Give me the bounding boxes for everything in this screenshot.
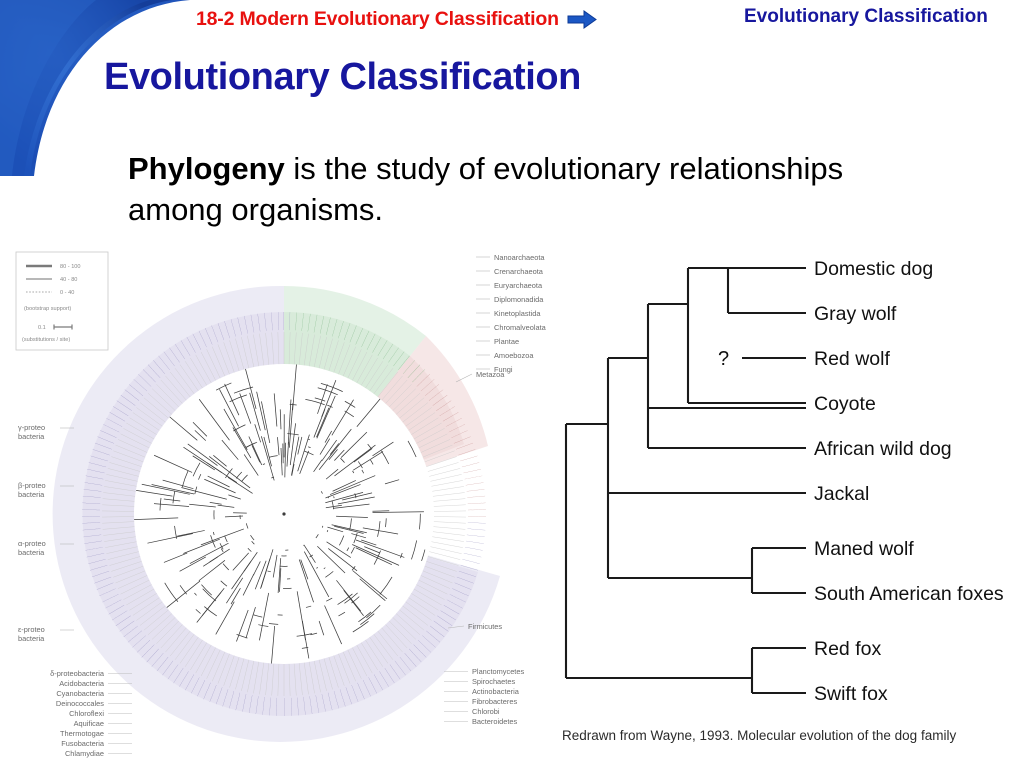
metazoa-label: Metazoa <box>476 370 505 379</box>
page-title: Evolutionary Classification <box>104 56 581 99</box>
tree-tip-microlabel: ————— <box>468 508 486 512</box>
tree-tip-microlabel: ————— <box>466 487 485 493</box>
tree-tip-microlabel: ————— <box>465 480 484 487</box>
circular-phylogenetic-tree: ————————————————————————————————————————… <box>8 246 588 760</box>
body-paragraph: Phylogeny is the study of evolutionary r… <box>128 148 868 230</box>
tree-tip-tick <box>433 493 465 497</box>
tree-tip-microlabel: ————— <box>82 508 100 512</box>
tree-group-label: Spirochaetes <box>472 677 515 686</box>
tree-group-label: δ-proteobacteria <box>50 669 105 678</box>
legend-range-2: 0 - 40 <box>60 290 74 296</box>
tree-tip-tick <box>434 505 466 507</box>
cladogram-taxon-label: Red fox <box>814 638 881 660</box>
tree-legend: 80 - 100 40 - 80 0 - 40 (bootstrap suppo… <box>16 252 108 350</box>
tree-group-label: ε-proteo <box>18 625 45 634</box>
tree-root-node <box>282 512 285 515</box>
slide-canvas: 18-2 Modern Evolutionary Classification … <box>0 0 1024 768</box>
tree-tip-microlabel: ————— <box>468 501 487 506</box>
tree-group-label: bacteria <box>18 490 45 499</box>
tree-tip-microlabel: ————— <box>289 698 294 716</box>
cladogram-taxon-label: Maned wolf <box>814 538 914 560</box>
tree-tip-tick <box>432 537 464 542</box>
tree-tip-tick <box>433 532 465 536</box>
tree-tip-tick <box>433 527 465 530</box>
tree-tip-tick <box>430 547 461 554</box>
cladogram-taxon-label: Red wolf <box>814 348 890 370</box>
tree-group-label: β-proteo <box>18 481 46 490</box>
tree-group-label: γ-proteo <box>18 423 45 432</box>
tree-group-label: Chromalveolata <box>494 323 547 332</box>
tree-group-label: Crenarchaeota <box>494 267 544 276</box>
tree-tip-microlabel: ————— <box>468 520 487 525</box>
tree-tip-tick <box>434 517 466 518</box>
tree-branch <box>372 511 389 512</box>
cladogram-taxon-label: Jackal <box>814 483 869 505</box>
tree-group-label: α-proteo <box>18 539 46 548</box>
tree-group-label: Actinobacteria <box>472 687 520 696</box>
chapter-label: 18-2 Modern Evolutionary Classification <box>196 8 559 31</box>
tree-group-label: Nanoarchaeota <box>494 253 545 262</box>
cladogram-caption: Redrawn from Wayne, 1993. Molecular evol… <box>562 728 956 743</box>
tree-tip-microlabel: ————— <box>287 312 292 330</box>
tree-group-label: Thermotogae <box>60 729 104 738</box>
legend-scale-caption: (substitutions / site) <box>22 337 70 343</box>
tree-tip-microlabel: ————— <box>466 539 485 546</box>
tree-tip-microlabel: ————— <box>274 697 279 715</box>
tree-group-label: Kinetoplastida <box>494 309 541 318</box>
tree-group-label: Deinococcales <box>56 699 104 708</box>
tree-arc <box>303 545 304 546</box>
tree-tip-microlabel: ————— <box>468 514 486 518</box>
tree-tip-tick <box>434 511 466 512</box>
tree-group-label: Amoebozoa <box>494 351 534 360</box>
tree-tip-tick <box>432 486 464 491</box>
tree-bottom-left-label-column: δ-proteobacteriaAcidobacteriaCyanobacter… <box>50 669 132 758</box>
cladogram-branches <box>566 268 806 693</box>
tree-tip-microlabel: ————— <box>82 514 100 518</box>
tree-group-label: bacteria <box>18 548 45 557</box>
tree-group-label: Euryarchaeota <box>494 281 543 290</box>
tree-group-label: Fibrobacteres <box>472 697 517 706</box>
tree-tip-microlabel: ————— <box>467 533 486 539</box>
tree-group-label: Bacteroidetes <box>472 717 517 726</box>
section-label: Evolutionary Classification <box>744 5 994 28</box>
legend-scale-value: 0.1 <box>38 325 46 331</box>
tree-tip-tick <box>431 480 462 486</box>
cladogram-taxon-label: Domestic dog <box>814 258 933 280</box>
tree-group-label: Planctomycetes <box>472 667 524 676</box>
firmicutes-label: Firmicutes <box>468 622 502 631</box>
cladogram-taxon-label: South American foxes <box>814 583 1004 605</box>
tree-group-label: Chlorobi <box>472 707 500 716</box>
tree-group-label: bacteria <box>18 432 45 441</box>
tree-group-label: Cyanobacteria <box>56 689 105 698</box>
tree-group-label: Diplomonadida <box>494 295 544 304</box>
legend-support-caption: (bootstrap support) <box>24 306 71 312</box>
dog-family-cladogram: ? Domestic dogGray wolfRed wolfCoyoteAfr… <box>556 248 1024 748</box>
body-keyword: Phylogeny <box>128 151 285 186</box>
tree-group-label: Aquificae <box>74 719 104 728</box>
legend-range-1: 40 - 80 <box>60 277 77 283</box>
tree-group-label: Chloroflexi <box>69 709 104 718</box>
tree-tip-tick <box>430 474 461 481</box>
tree-group-label: Acidobacteria <box>59 679 105 688</box>
tree-tip-microlabel: ————— <box>467 494 486 500</box>
cladogram-taxon-label: African wild dog <box>814 438 952 460</box>
tree-right-label-column: NanoarchaeotaCrenarchaeotaEuryarchaeotaD… <box>476 253 547 374</box>
tree-group-label: Fusobacteria <box>61 739 105 748</box>
header-bar: 18-2 Modern Evolutionary Classification <box>196 6 836 32</box>
unresolved-node-marker: ? <box>718 348 729 370</box>
cladogram-taxon-label: Gray wolf <box>814 303 897 325</box>
tree-tip-tick <box>434 522 466 524</box>
tree-tip-microlabel: ————— <box>467 527 486 533</box>
tree-tip-tick <box>431 542 462 548</box>
tree-tip-microlabel: ————— <box>276 312 281 330</box>
tree-tip-microlabel: ————— <box>283 698 287 716</box>
right-arrow-icon <box>567 10 597 29</box>
cladogram-taxon-label: Swift fox <box>814 683 888 705</box>
tree-group-label: Chlamydiae <box>65 749 104 758</box>
tree-group-label: Plantae <box>494 337 519 346</box>
cladogram-taxon-label: Coyote <box>814 393 876 415</box>
legend-range-0: 80 - 100 <box>60 264 81 270</box>
tree-group-label: bacteria <box>18 634 45 643</box>
tree-tip-tick <box>433 499 465 502</box>
cladogram-taxon-labels: Domestic dogGray wolfRed wolfCoyoteAfric… <box>814 258 1004 705</box>
tree-bottom-right-label-column: PlanctomycetesSpirochaetesActinobacteria… <box>444 667 524 726</box>
